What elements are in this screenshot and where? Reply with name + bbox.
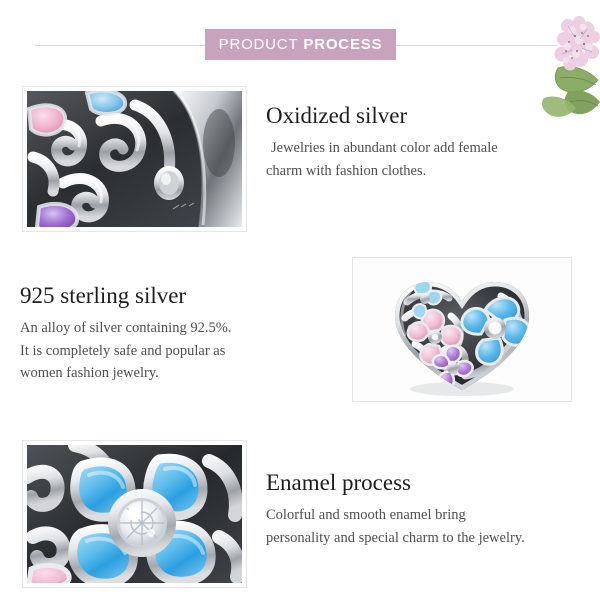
page-title-bold: PROCESS: [303, 36, 382, 53]
section-body-925-sterling-silver: An alloy of silver containing 92.5%. It …: [20, 317, 320, 384]
header-rule-right: [388, 45, 558, 46]
section-heading-enamel-process: Enamel process: [266, 470, 596, 496]
photo-oxidized-silver-filigree: [22, 86, 247, 232]
photo-heart-charm-bead: [352, 257, 572, 402]
header-rule-left: [35, 45, 213, 46]
section-heading-oxidized-silver: Oxidized silver: [266, 103, 576, 129]
body-line: Colorful and smooth enamel bring: [266, 504, 596, 526]
body-line: women fashion jewelry.: [20, 362, 320, 384]
body-line: It is completely safe and popular as: [20, 340, 320, 362]
body-line: charm with fashion clothes.: [266, 160, 576, 182]
page-title-banner: PRODUCT PROCESS: [205, 29, 396, 60]
section-body-oxidized-silver: Jewelries in abundant color add female c…: [266, 137, 576, 182]
page-header: PRODUCT PROCESS: [0, 0, 600, 72]
body-line: An alloy of silver containing 92.5%.: [20, 317, 320, 339]
page-title-light: PRODUCT: [219, 36, 299, 53]
body-line: Jewelries in abundant color add female: [266, 137, 576, 159]
section-heading-925-sterling-silver: 925 sterling silver: [20, 283, 320, 309]
section-enamel-process: Enamel process Colorful and smooth ename…: [266, 470, 596, 549]
section-oxidized-silver: Oxidized silver Jewelries in abundant co…: [266, 103, 576, 182]
section-body-enamel-process: Colorful and smooth enamel bring persona…: [266, 504, 596, 549]
section-925-sterling-silver: 925 sterling silver An alloy of silver c…: [20, 283, 320, 385]
body-line: personality and special charm to the jew…: [266, 527, 596, 549]
photo-blue-enamel-flower: [22, 440, 247, 588]
